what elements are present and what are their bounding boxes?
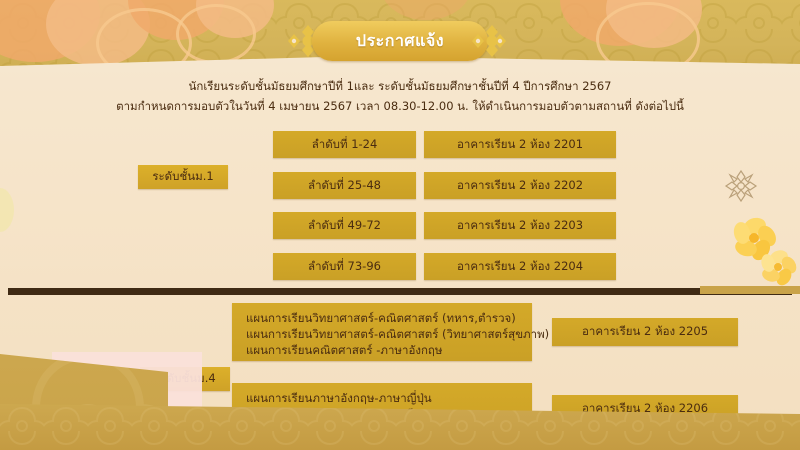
m4-plan-line: แผนการเรียนคณิตศาสตร์ -ภาษาอังกฤษ (246, 342, 532, 358)
m1-sequence-box: ลำดับที่ 49-72 (273, 212, 416, 239)
badge-title: ประกาศแจ้ง (356, 29, 444, 54)
m4-plan-line: แผนการเรียนภาษาอังกฤษ-ภาษาญี่ปุ่น (246, 390, 532, 406)
announcement-poster: ประกาศแจ้ง นักเรียนระดับชั้นมัธยมศึกษาปี… (0, 0, 800, 450)
m4-plan-line: แผนการเรียนวิทยาศาสตร์-คณิตศาสตร์ (วิทยา… (246, 326, 532, 342)
flower-outline-ornament-icon (723, 168, 759, 204)
m1-room-box: อาคารเรียน 2 ห้อง 2201 (424, 131, 616, 158)
thai-ornament-flourish-icon (470, 23, 514, 59)
plumeria-flower-icon (756, 246, 800, 290)
m4-room-box: อาคารเรียน 2 ห้อง 2205 (552, 318, 738, 346)
light-glow-decoration (0, 180, 30, 240)
grade-m1-label: ระดับชั้นม.1 (138, 165, 228, 189)
header-badge: ประกาศแจ้ง (286, 21, 514, 61)
m1-sequence-box: ลำดับที่ 25-48 (273, 172, 416, 199)
m1-room-box: อาคารเรียน 2 ห้อง 2204 (424, 253, 616, 280)
horizontal-divider (8, 288, 792, 295)
announcement-description: นักเรียนระดับชั้นมัธยมศึกษาปีที่ 1และ ระ… (0, 72, 800, 116)
description-line-1: นักเรียนระดับชั้นมัธยมศึกษาปีที่ 1และ ระ… (0, 76, 800, 96)
m4-plans-box: แผนการเรียนวิทยาศาสตร์-คณิตศาสตร์ (ทหาร,… (232, 303, 532, 361)
description-line-2: ตามกำหนดการมอบตัวในวันที่ 4 เมษายน 2567 … (0, 96, 800, 116)
badge-body: ประกาศแจ้ง (312, 21, 488, 61)
m1-sequence-box: ลำดับที่ 1-24 (273, 131, 416, 158)
m1-room-box: อาคารเรียน 2 ห้อง 2202 (424, 172, 616, 199)
cloud-outline (176, 4, 256, 64)
m4-plan-line: แผนการเรียนวิทยาศาสตร์-คณิตศาสตร์ (ทหาร,… (246, 310, 532, 326)
m1-sequence-box: ลำดับที่ 73-96 (273, 253, 416, 280)
m1-room-box: อาคารเรียน 2 ห้อง 2203 (424, 212, 616, 239)
